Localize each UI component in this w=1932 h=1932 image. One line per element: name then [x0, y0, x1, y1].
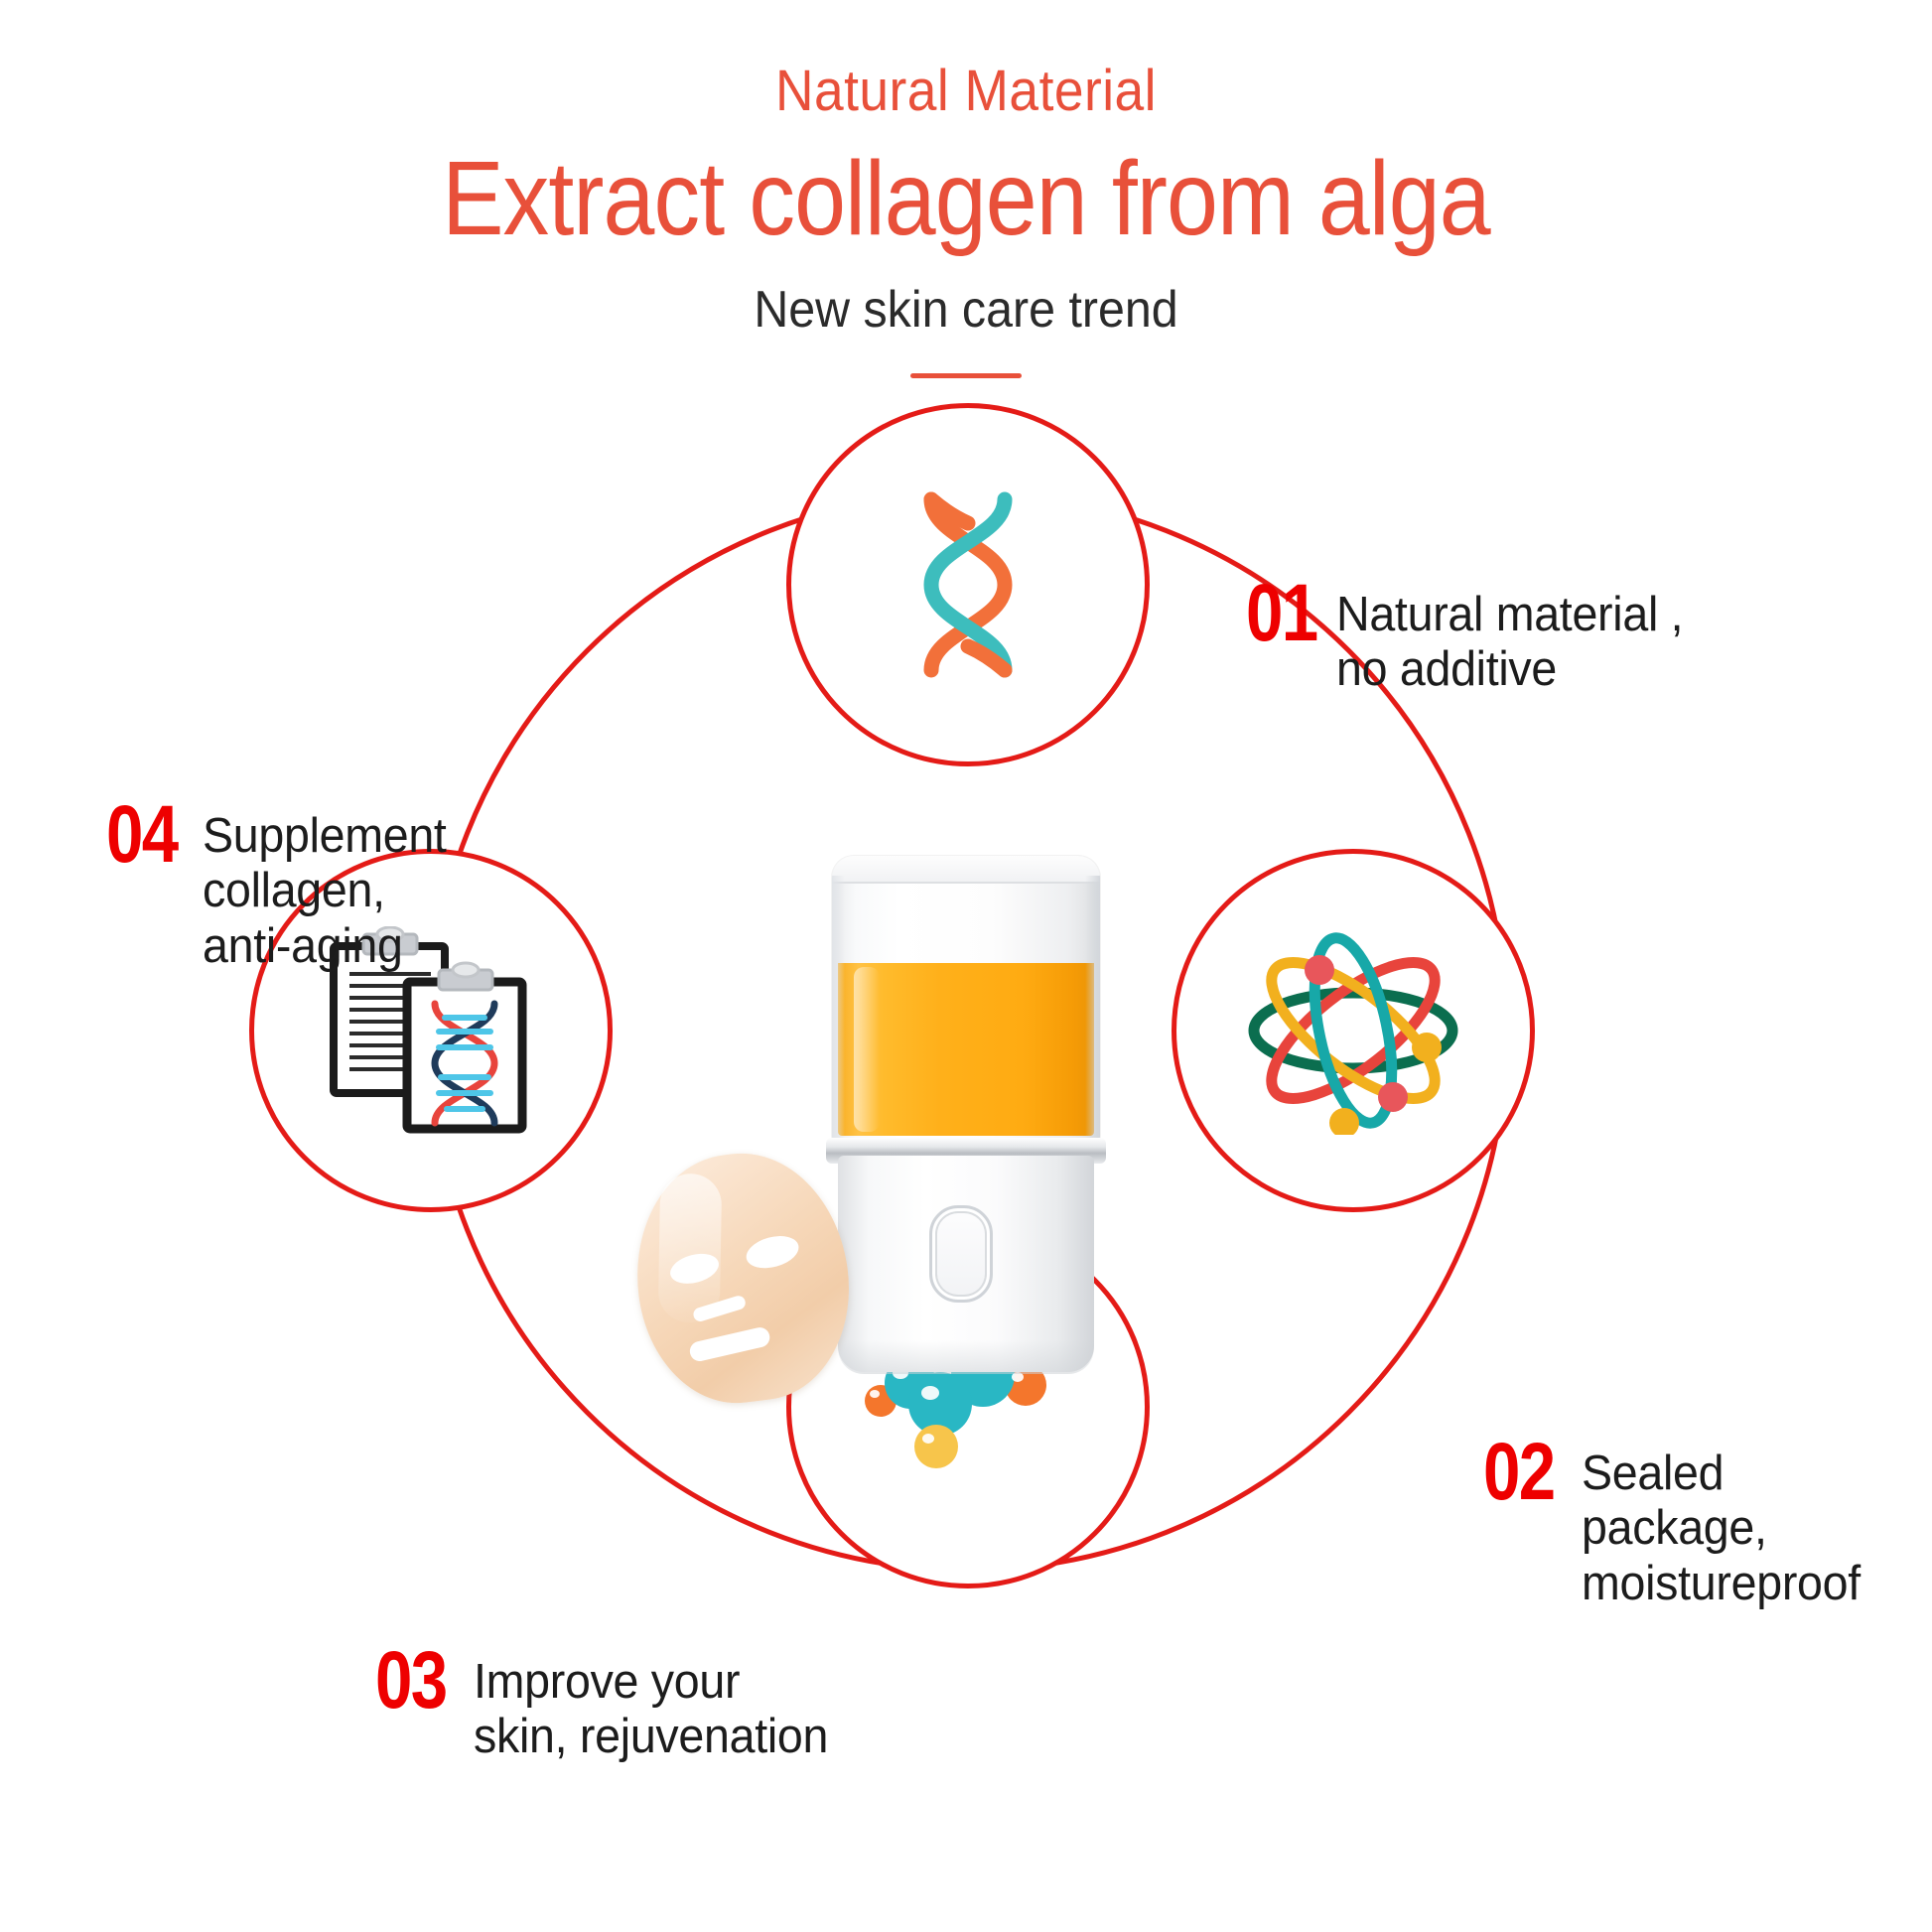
jar-edge-left — [832, 876, 845, 1144]
power-button[interactable] — [929, 1205, 993, 1303]
feature-node-top[interactable] — [786, 403, 1150, 766]
feature-wheel-diagram: 01 Natural material , no additive 02 Sea… — [0, 0, 1932, 1932]
feature-caption-02: 02 Sealed package, moistureproof — [1483, 1435, 1875, 1611]
feature-number-01: 01 — [1246, 576, 1317, 650]
product-image — [822, 856, 1110, 1372]
feature-caption-04: 04 Supplement collagen, anti-aging — [106, 797, 460, 974]
feature-caption-01: 01 Natural material , no additive — [1246, 576, 1702, 698]
jar-edge-right — [1085, 876, 1100, 1144]
feature-number-03: 03 — [375, 1643, 447, 1718]
mask-eye-right — [743, 1231, 802, 1274]
mask-mouth-slit — [688, 1325, 771, 1363]
feature-number-02: 02 — [1483, 1435, 1555, 1509]
feature-text-01: Natural material , no additive — [1336, 588, 1683, 698]
feature-caption-03: 03 Improve your skin, rejuvenation — [375, 1643, 847, 1765]
feature-number-04: 04 — [106, 797, 178, 872]
feature-text-02: Sealed package, moistureproof — [1582, 1447, 1861, 1611]
atom-orbit-icon — [1244, 926, 1462, 1135]
feature-node-right[interactable] — [1172, 849, 1535, 1212]
base-shadow — [838, 1340, 1094, 1374]
jar-lid — [832, 856, 1100, 884]
mask-highlight — [658, 1173, 723, 1323]
feature-text-04: Supplement collagen, anti-aging — [203, 809, 447, 974]
liquid-highlight — [854, 967, 880, 1132]
feature-text-03: Improve your skin, rejuvenation — [474, 1655, 828, 1765]
jar-chamber — [832, 856, 1100, 1144]
dna-helix-icon — [894, 485, 1042, 684]
